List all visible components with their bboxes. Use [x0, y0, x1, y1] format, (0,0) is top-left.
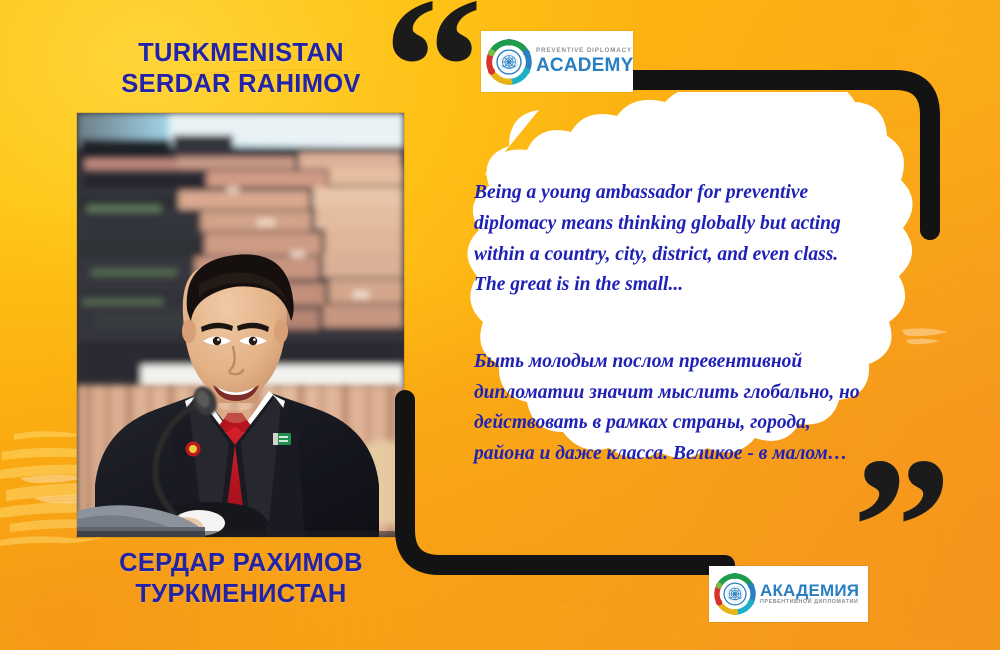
quote-english: Being a young ambassador for preventive … — [474, 178, 874, 301]
country-label-en: TURKMENISTAN — [52, 38, 430, 69]
country-label-ru: ТУРКМЕНИСТАН — [52, 579, 430, 610]
poster-canvas: TURKMENISTAN SERDAR RAHIMOV СЕРДАР РАХИМ… — [0, 0, 1000, 650]
academy-logo-russian[interactable]: АКАДЕМИЯ ПРЕВЕНТИВНОЙ ДИПЛОМАТИИ — [709, 566, 868, 622]
speaker-name-russian: СЕРДАР РАХИМОВ ТУРКМЕНИСТАН — [52, 548, 430, 610]
logo-title-ru: АКАДЕМИЯ — [760, 582, 859, 599]
name-label-ru: СЕРДАР РАХИМОВ — [52, 548, 430, 579]
logo-subtitle-en: PREVENTIVE DIPLOMACY — [536, 48, 633, 54]
quote-text-block: Being a young ambassador for preventive … — [474, 178, 874, 470]
un-globe-ring-icon — [486, 39, 532, 85]
speaker-photo — [77, 113, 404, 537]
speaker-name-english: TURKMENISTAN SERDAR RAHIMOV — [52, 38, 430, 99]
quote-russian: Быть молодым послом превентивной диплома… — [474, 347, 874, 469]
un-globe-ring-icon — [714, 573, 756, 615]
name-label-en: SERDAR RAHIMOV — [52, 69, 430, 100]
academy-logo-english[interactable]: PREVENTIVE DIPLOMACY ACADEMY — [481, 31, 633, 92]
logo-subtitle-ru: ПРЕВЕНТИВНОЙ ДИПЛОМАТИИ — [760, 600, 859, 605]
logo-title-en: ACADEMY — [536, 56, 633, 75]
